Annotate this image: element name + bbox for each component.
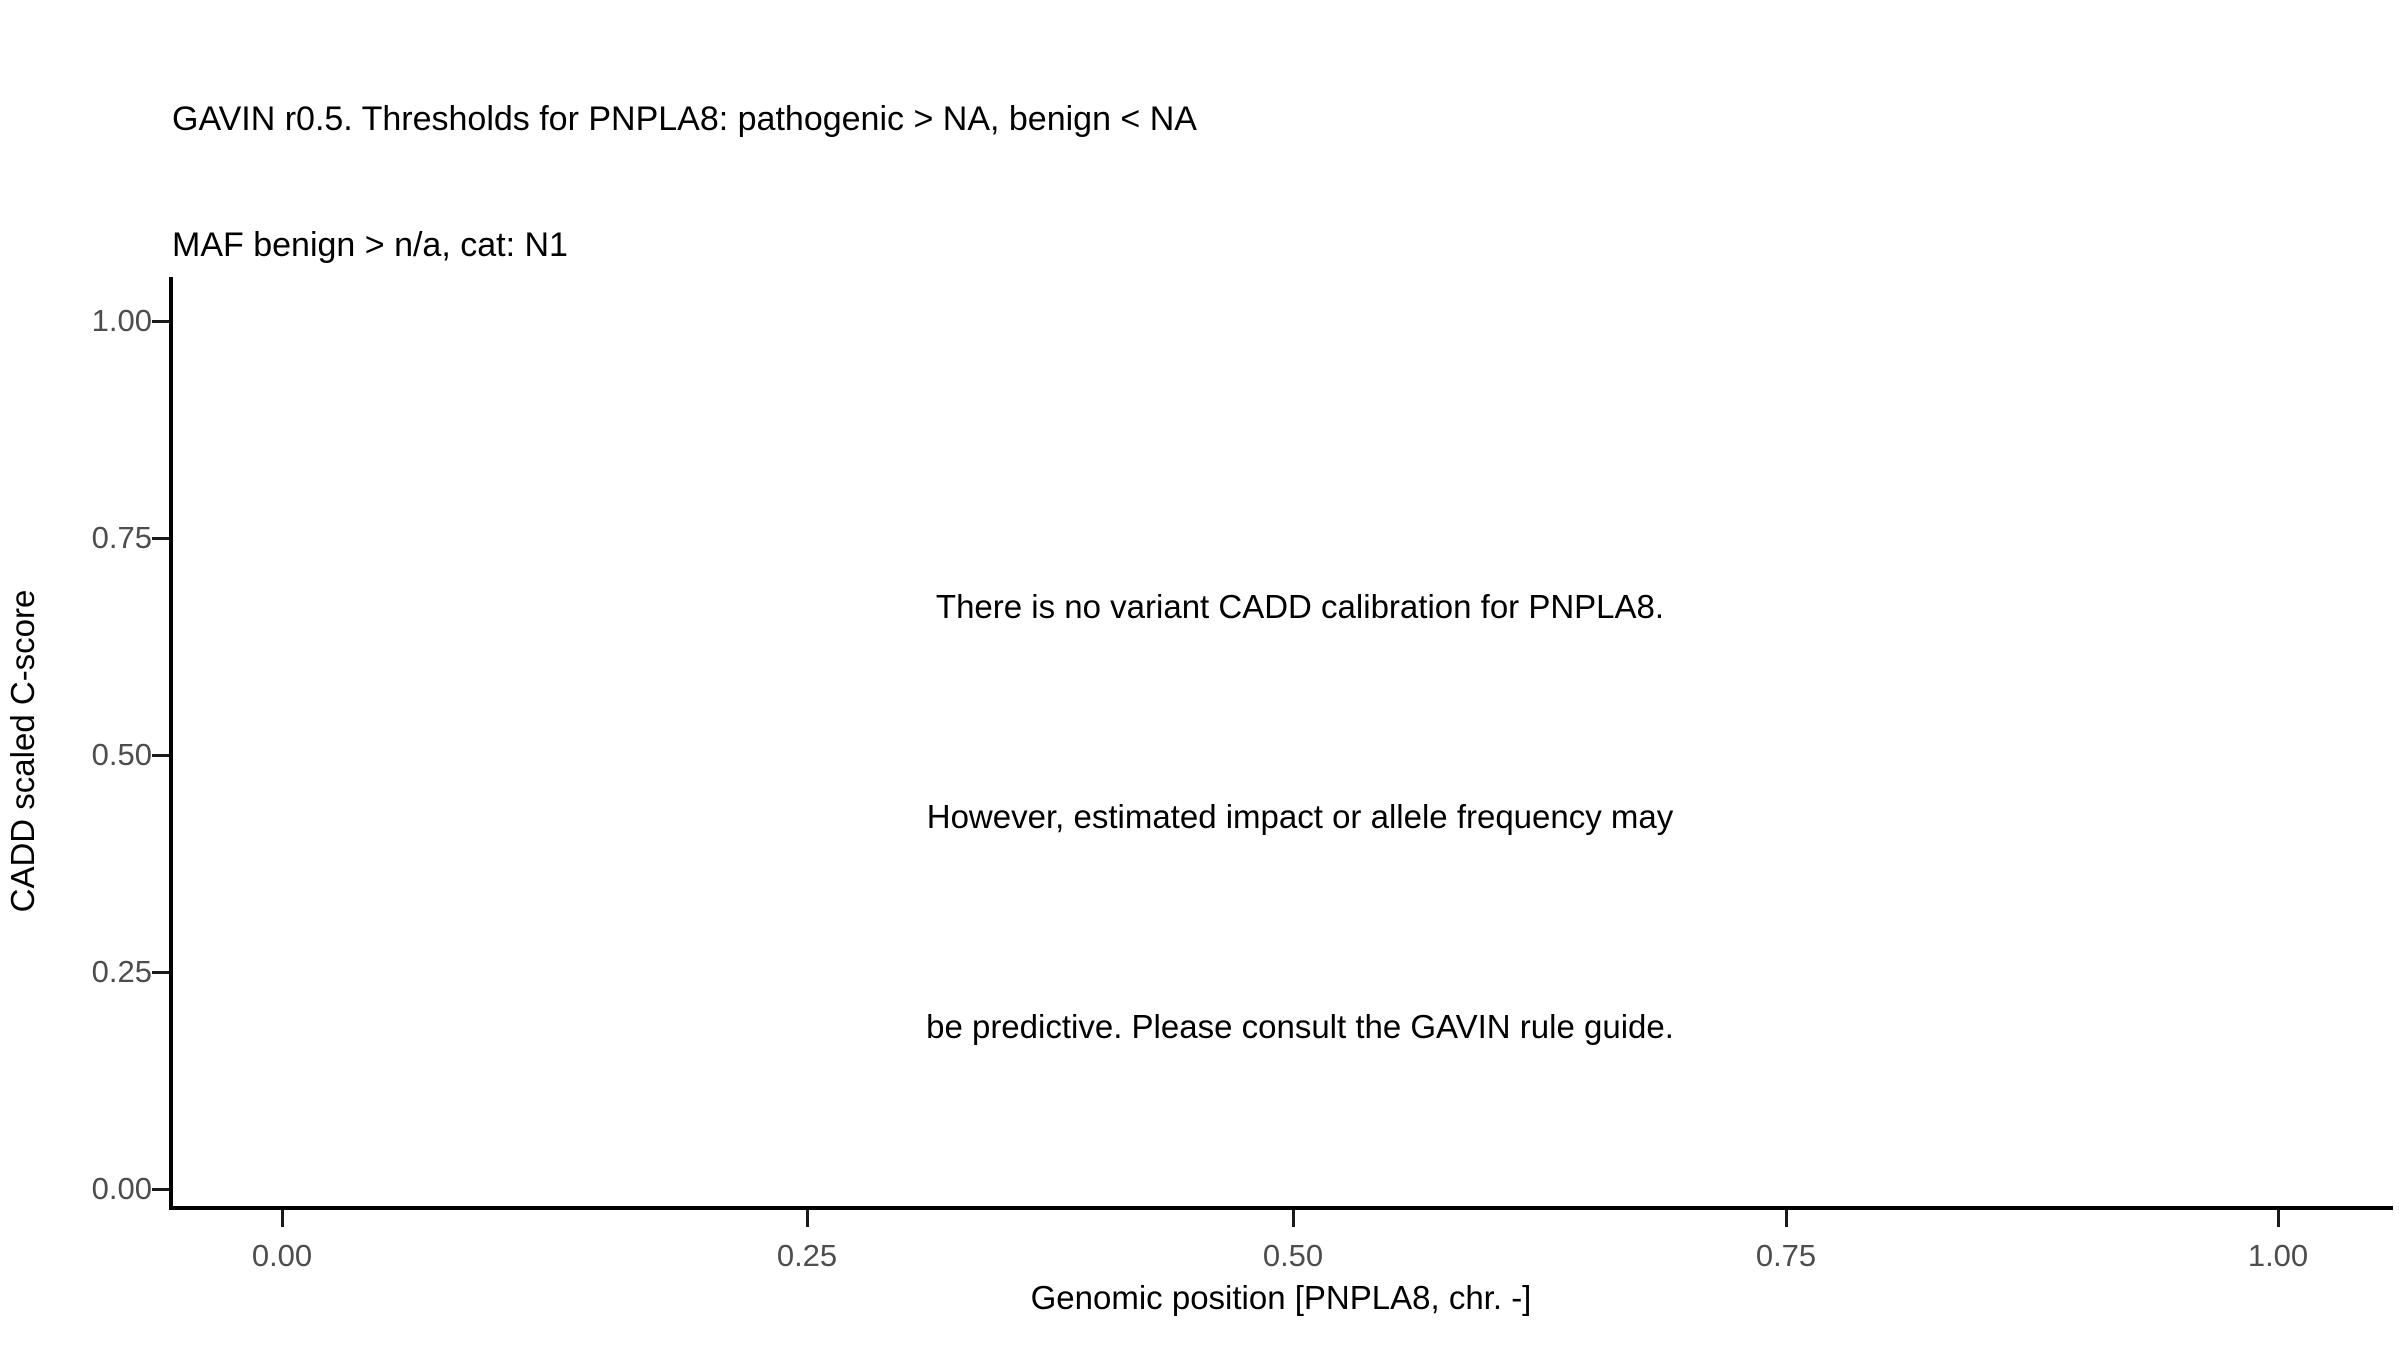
no-calibration-message-line-2: However, estimated impact or allele freq… — [400, 782, 2200, 852]
x-axis-tick-label-5: 1.00 — [2178, 1237, 2378, 1275]
no-calibration-message-line-1: There is no variant CADD calibration for… — [400, 572, 2200, 642]
y-axis-title: CADD scaled C-score — [0, 231, 46, 1271]
y-axis-tick-label-4: 0.25 — [92, 956, 152, 987]
x-axis-tick-label-4: 0.75 — [1686, 1237, 1886, 1275]
y-axis-tick-label-2: 0.75 — [92, 522, 152, 553]
y-axis-tick-label-5: 0.00 — [92, 1173, 152, 1204]
x-axis-tick-mark-1 — [281, 1210, 284, 1227]
y-axis-tick-mark-1 — [152, 320, 169, 323]
y-axis-tick-mark-2 — [152, 537, 169, 540]
x-axis-line — [169, 1206, 2393, 1210]
x-axis-tick-label-1: 0.00 — [182, 1237, 382, 1275]
x-axis-tick-label-2: 0.25 — [707, 1237, 907, 1275]
y-axis-tick-mark-5 — [152, 1188, 169, 1191]
x-axis-tick-mark-3 — [1292, 1210, 1295, 1227]
y-axis-line — [169, 277, 173, 1210]
y-axis-tick-label-1: 1.00 — [92, 305, 152, 336]
x-axis-title: Genomic position [PNPLA8, chr. -] — [172, 1278, 2390, 1318]
y-axis-tick-mark-3 — [152, 754, 169, 757]
chart-canvas: GAVIN r0.5. Thresholds for PNPLA8: patho… — [0, 0, 2400, 1350]
x-axis-tick-label-3: 0.50 — [1193, 1237, 1393, 1275]
y-axis-tick-label-3: 0.50 — [92, 739, 152, 770]
no-calibration-message-line-3: be predictive. Please consult the GAVIN … — [400, 992, 2200, 1062]
chart-title-line-1: GAVIN r0.5. Thresholds for PNPLA8: patho… — [172, 98, 2272, 140]
x-axis-tick-mark-2 — [806, 1210, 809, 1227]
y-axis-tick-mark-4 — [152, 971, 169, 974]
no-calibration-message: There is no variant CADD calibration for… — [400, 432, 2200, 1202]
chart-title-line-2: MAF benign > n/a, cat: N1 — [172, 224, 2272, 266]
x-axis-tick-mark-5 — [2277, 1210, 2280, 1227]
x-axis-tick-mark-4 — [1785, 1210, 1788, 1227]
